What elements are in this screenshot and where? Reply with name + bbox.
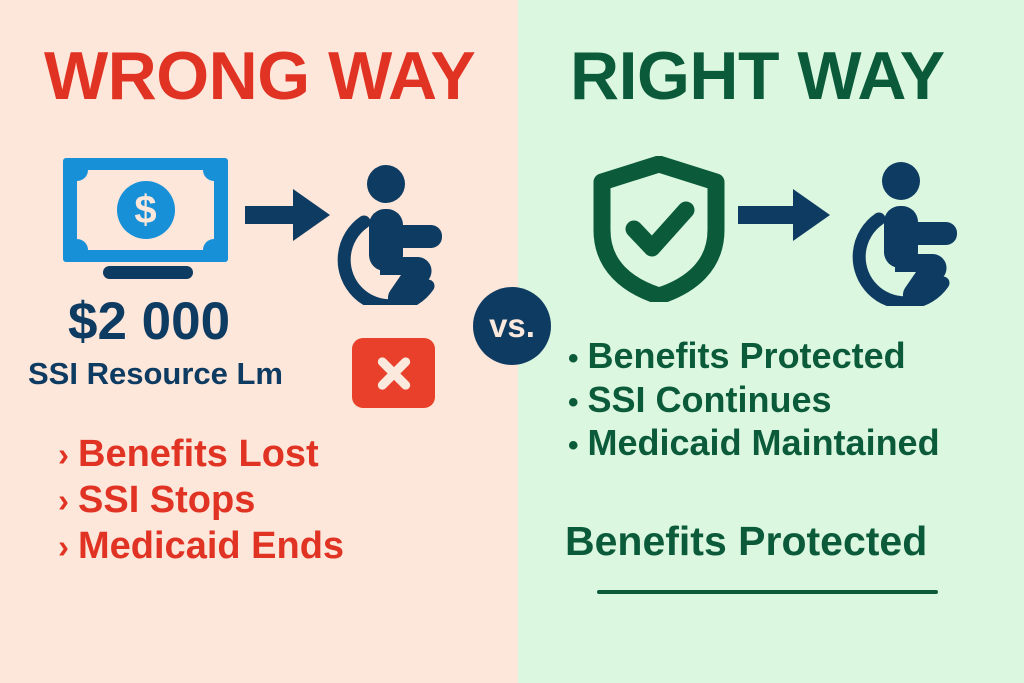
wheelchair-accessible-icon <box>333 165 455 305</box>
bullet-dot-icon: • <box>568 341 579 377</box>
red-x-badge <box>352 338 435 408</box>
list-item-label: SSI Continues <box>588 378 832 422</box>
list-item: › Medicaid Ends <box>58 524 344 570</box>
arrow-right-icon <box>738 185 830 245</box>
shield-check-icon <box>592 156 726 302</box>
bullet-dot-icon: • <box>568 385 579 421</box>
right-way-title: RIGHT WAY <box>570 42 945 110</box>
wrong-way-bullet-list: › Benefits Lost › SSI Stops › Medicaid E… <box>58 432 344 570</box>
resource-limit-caption: SSI Resource Lm <box>28 358 283 389</box>
wheelchair-accessible-icon <box>848 158 970 306</box>
list-item-label: SSI Stops <box>78 478 255 524</box>
list-item: • SSI Continues <box>568 378 940 422</box>
bullet-dot-icon: • <box>568 428 579 464</box>
dollar-sign-icon: $ <box>117 181 175 239</box>
bill-notch-top-left <box>66 159 88 181</box>
benefits-protected-footer: Benefits Protected <box>565 521 927 562</box>
arrow-right-icon <box>245 185 330 245</box>
resource-limit-amount: $2 000 <box>68 295 230 348</box>
chevron-right-icon: › <box>58 435 69 475</box>
footer-underline-rule <box>597 590 938 594</box>
chevron-right-icon: › <box>58 481 69 521</box>
money-underline-bar <box>103 266 193 279</box>
list-item-label: Medicaid Maintained <box>588 421 940 465</box>
list-item: • Medicaid Maintained <box>568 421 940 465</box>
list-item-label: Medicaid Ends <box>78 524 344 570</box>
chevron-right-icon: › <box>58 527 69 567</box>
money-bill-icon: $ <box>63 158 228 262</box>
list-item: • Benefits Protected <box>568 334 940 378</box>
list-item-label: Benefits Protected <box>588 334 906 378</box>
bill-notch-top-right <box>203 159 225 181</box>
infographic-canvas: WRONG WAY RIGHT WAY $ $2 000 SSI Resourc… <box>0 0 1024 683</box>
list-item: › SSI Stops <box>58 478 344 524</box>
vs-badge: vs. <box>473 287 551 365</box>
right-way-bullet-list: • Benefits Protected • SSI Continues • M… <box>568 334 940 465</box>
list-item: › Benefits Lost <box>58 432 344 478</box>
money-bill-inner: $ <box>77 170 214 250</box>
bill-notch-bottom-right <box>203 239 225 261</box>
bill-notch-bottom-left <box>66 239 88 261</box>
list-item-label: Benefits Lost <box>78 432 319 478</box>
wrong-way-title: WRONG WAY <box>44 42 475 110</box>
